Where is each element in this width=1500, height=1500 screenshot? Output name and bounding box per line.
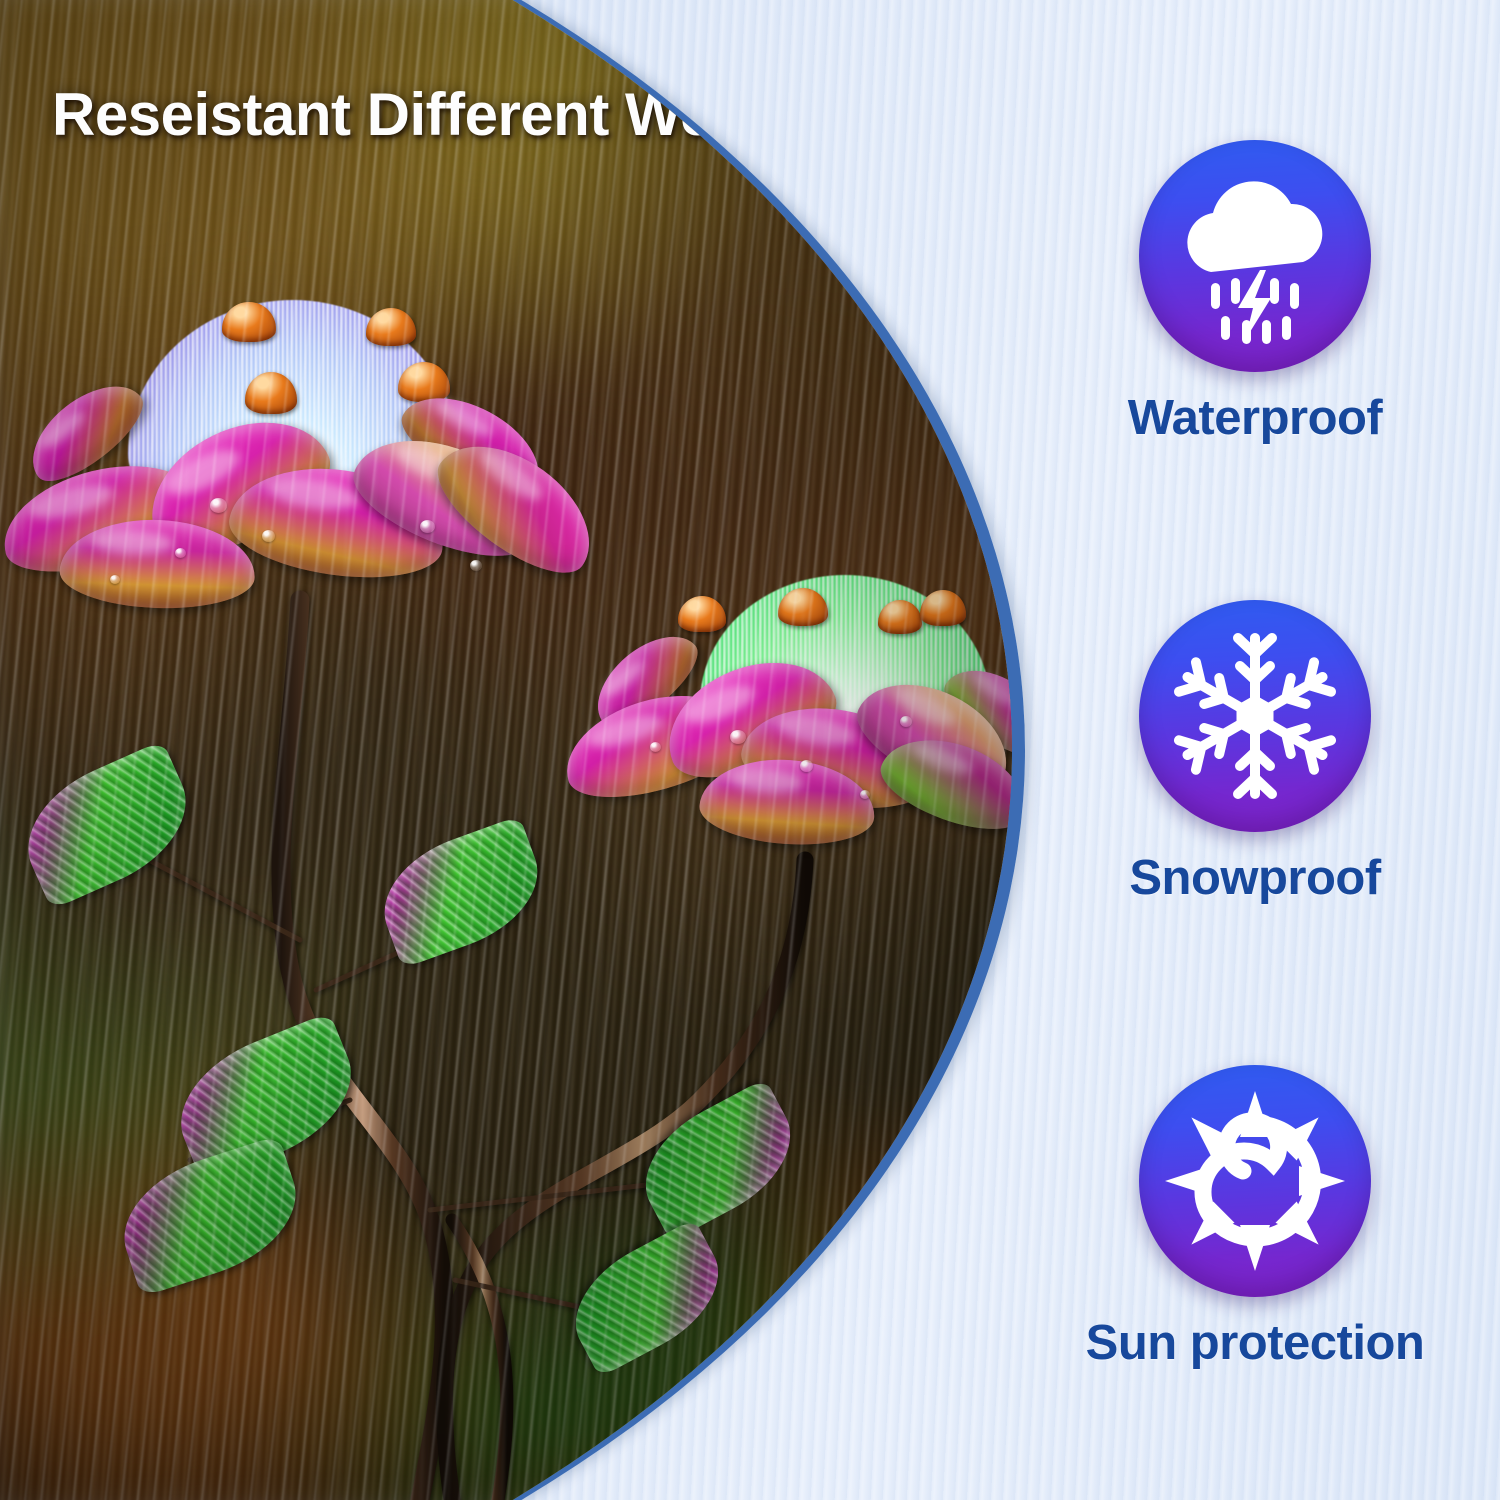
snowflake-icon <box>1139 600 1371 832</box>
waterproof-icon-badge <box>1139 140 1371 372</box>
product-feature-banner: Reseistant Different Weather <box>0 0 1500 1500</box>
feature-label: Sun protection <box>1010 1315 1500 1371</box>
sun-spiral-icon <box>1139 1065 1371 1297</box>
photo-vignette <box>0 0 1025 1500</box>
feature-label: Waterproof <box>1010 390 1500 446</box>
feature-list: Waterproof <box>1010 0 1500 1500</box>
feature-label: Snowproof <box>1010 850 1500 906</box>
sun-protection-icon-badge <box>1139 1065 1371 1297</box>
product-photo: Reseistant Different Weather <box>0 0 1025 1500</box>
product-photo-panel: Reseistant Different Weather <box>0 0 1025 1500</box>
cloud-rain-lightning-icon <box>1139 140 1371 372</box>
feature-snowproof: Snowproof <box>1010 600 1500 906</box>
page-title: Reseistant Different Weather <box>52 80 857 149</box>
feature-sun-protection: Sun protection <box>1010 1065 1500 1371</box>
snowproof-icon-badge <box>1139 600 1371 832</box>
feature-waterproof: Waterproof <box>1010 140 1500 446</box>
